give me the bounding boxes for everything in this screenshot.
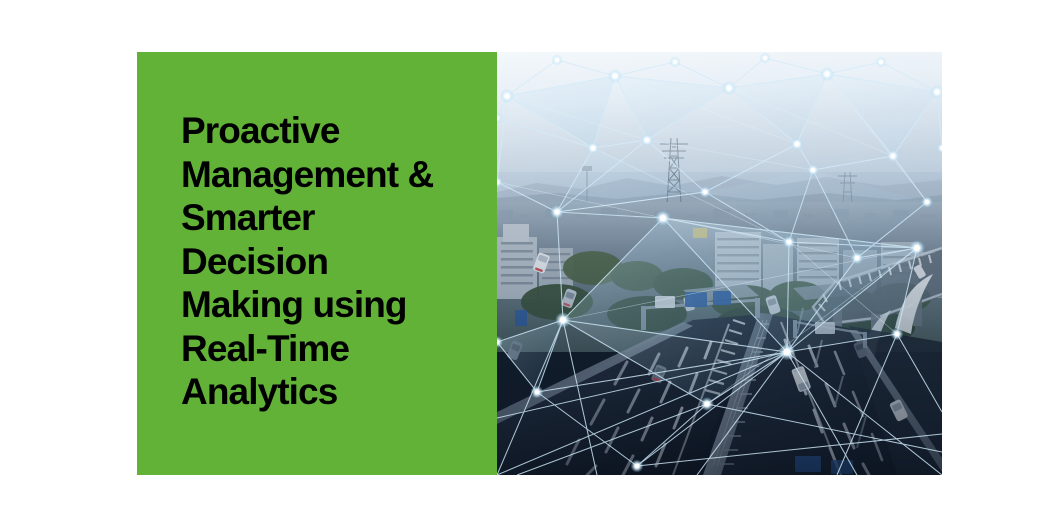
highway-network-photo <box>497 52 942 475</box>
page-title: Proactive Management & Smarter Decision … <box>181 109 481 414</box>
slide-canvas: Proactive Management & Smarter Decision … <box>0 0 1050 525</box>
headline-panel: Proactive Management & Smarter Decision … <box>137 52 497 475</box>
